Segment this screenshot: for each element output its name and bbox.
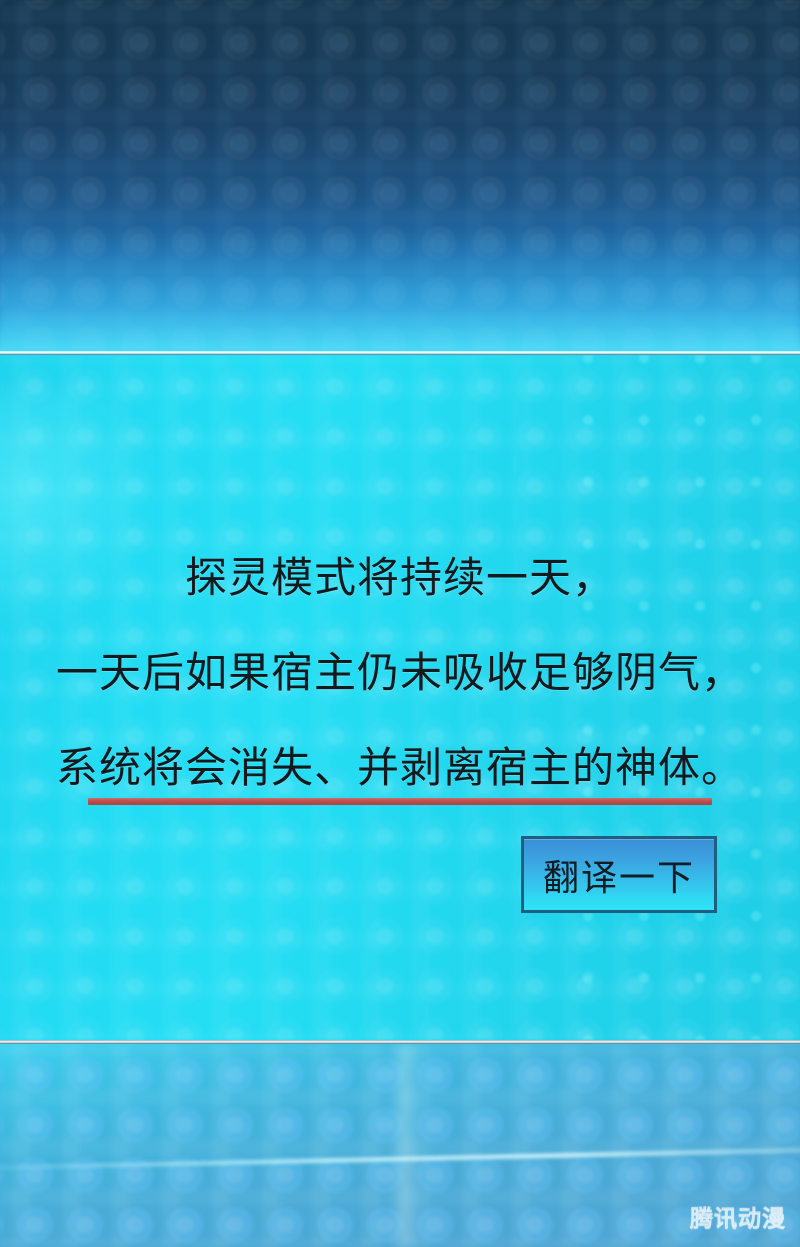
glow-haze-top [0,233,800,353]
upper-background-panel [0,0,800,353]
vertical-light-beam [392,1044,418,1247]
translate-button[interactable]: 翻译一下 [521,836,717,913]
comic-page: 探灵模式将持续一天， 一天后如果宿主仍未吸收足够阴气， 系统将会消失、并剥离宿主… [0,0,800,1247]
message-line-2: 一天后如果宿主仍未吸收足够阴气， [0,639,800,700]
watermark-logo: 腾讯动漫 [690,1199,786,1233]
red-underline [88,798,712,805]
translate-button-label: 翻译一下 [543,849,695,901]
message-panel: 探灵模式将持续一天， 一天后如果宿主仍未吸收足够阴气， 系统将会消失、并剥离宿主… [0,355,800,1040]
message-line-3: 系统将会消失、并剥离宿主的神体。 [0,734,800,795]
message-line-1: 探灵模式将持续一天， [0,544,800,605]
lower-background-panel: 腾讯动漫 [0,1044,800,1247]
